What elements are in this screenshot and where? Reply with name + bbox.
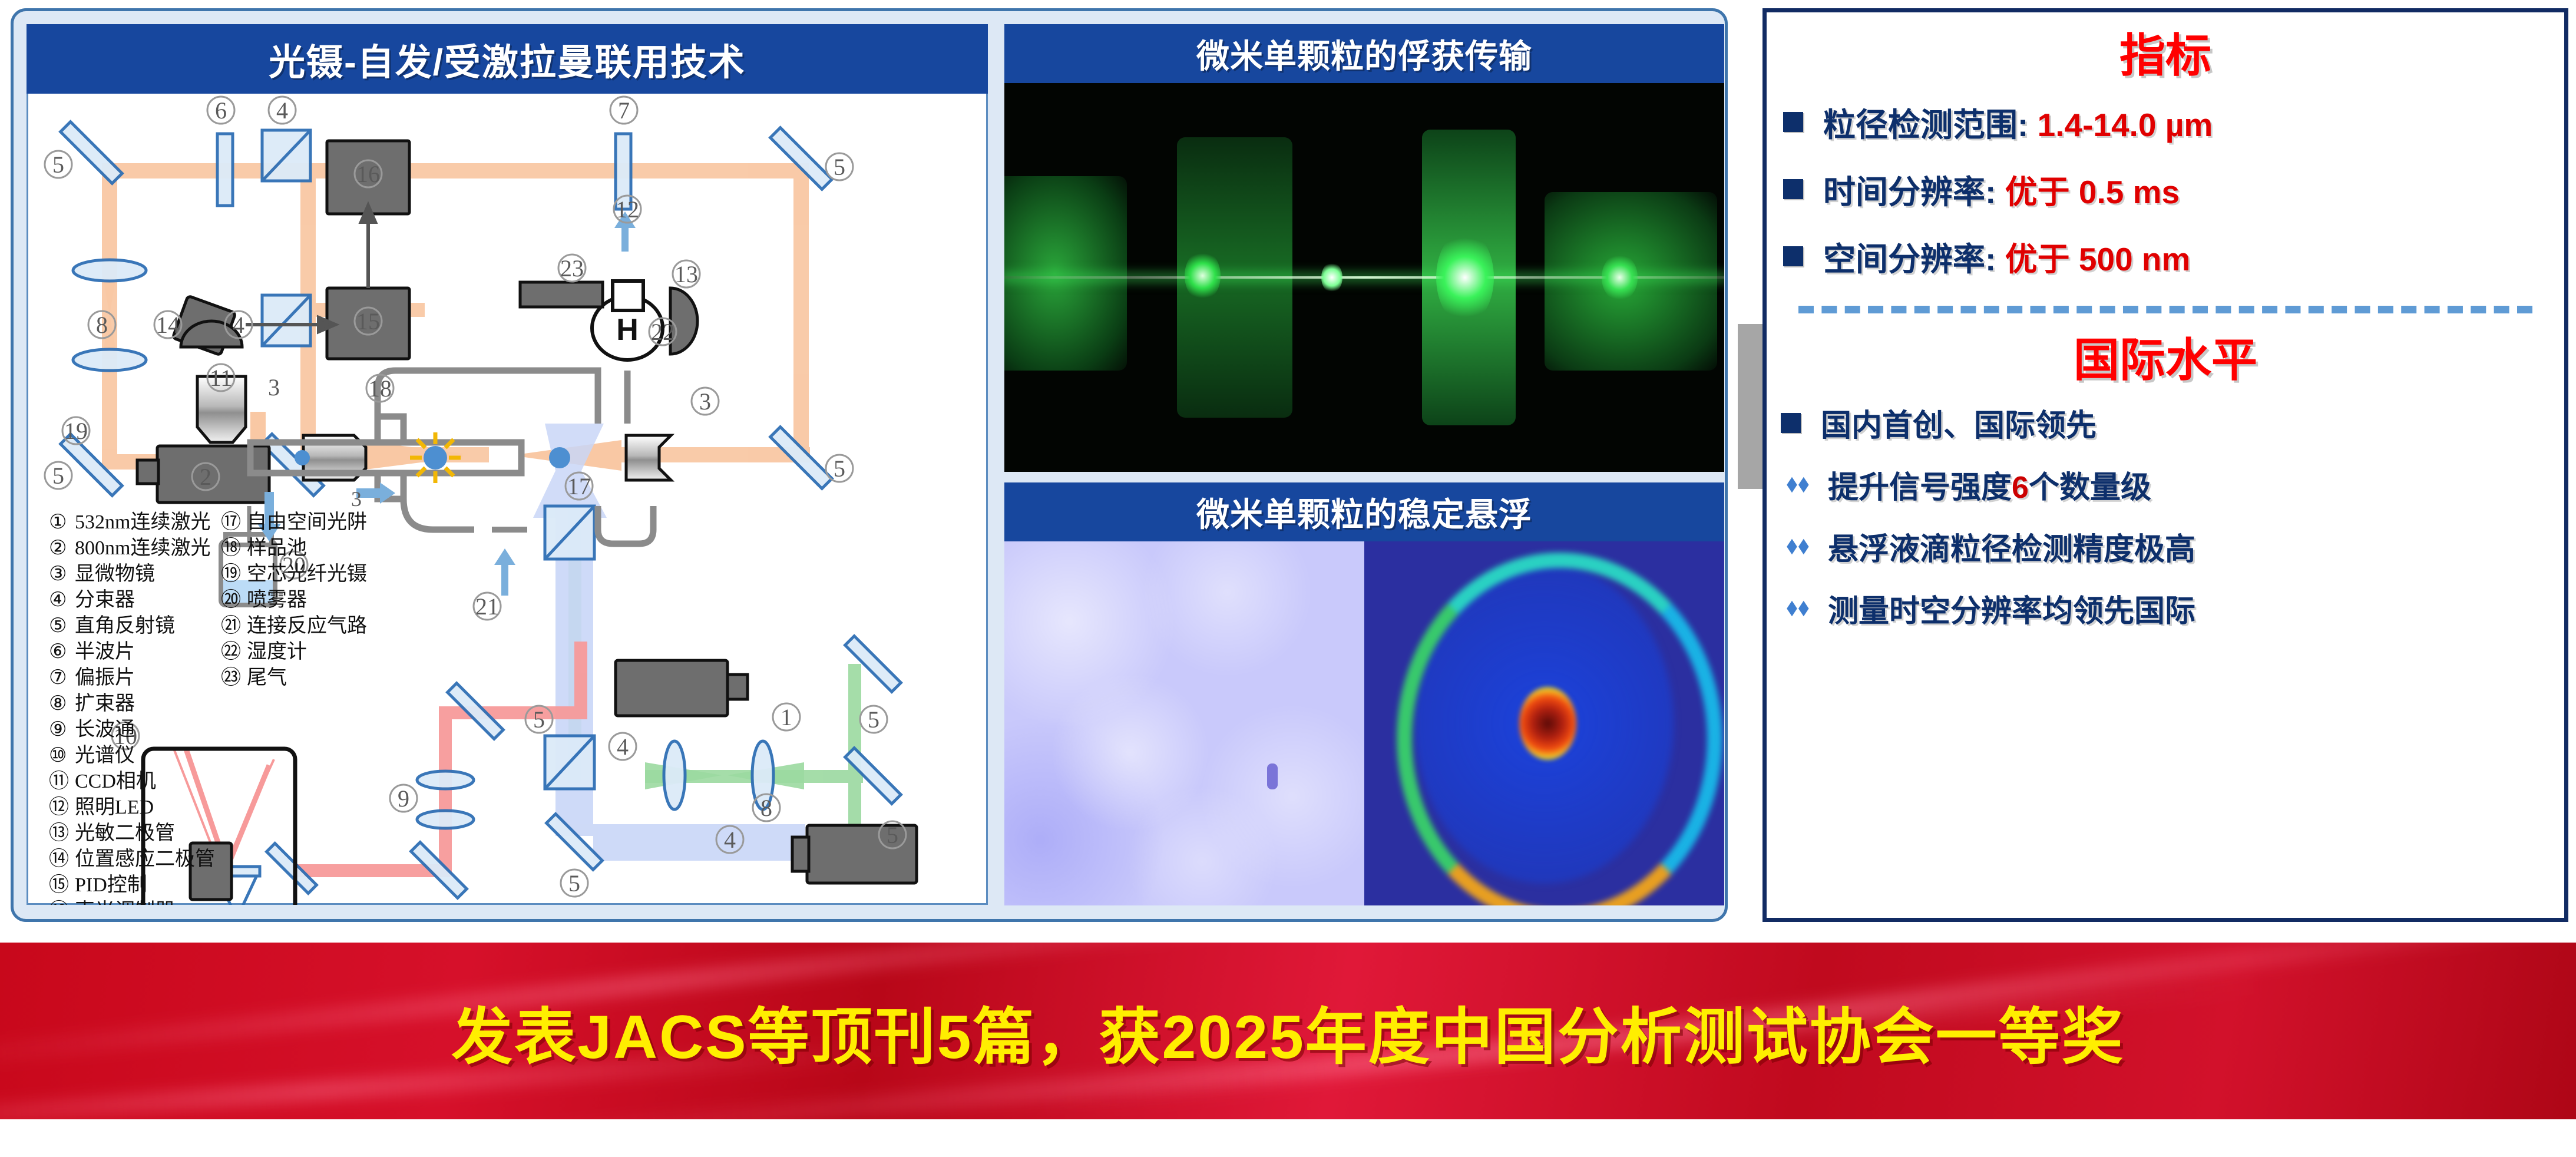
legend-number: ⑲ xyxy=(221,563,241,585)
noise-background-image xyxy=(1004,541,1364,905)
svg-text:3: 3 xyxy=(268,374,280,401)
svg-text:5: 5 xyxy=(52,151,64,178)
level-text-pre: 测量时空分辨率均领先国际 xyxy=(1828,594,2195,629)
svg-text:5: 5 xyxy=(834,455,845,482)
legend-label: 自由空间光阱 xyxy=(247,511,367,533)
svg-text:19: 19 xyxy=(64,418,88,444)
legend-number: ⑮ xyxy=(49,874,69,896)
svg-text:4: 4 xyxy=(724,827,736,853)
metric-label: 空间分辨率: xyxy=(1823,241,2005,277)
legend-number: ⑧ xyxy=(49,693,67,715)
legend-number: ㉒ xyxy=(221,640,241,663)
square-bullet-icon xyxy=(1783,112,1803,132)
legend-number: ⑱ xyxy=(221,537,241,559)
legend-label: 声光调制器 xyxy=(75,900,175,905)
legend-number: ⑳ xyxy=(221,589,241,611)
suspension-images xyxy=(1004,541,1724,905)
laser-trap-image xyxy=(1004,83,1724,472)
svg-text:5: 5 xyxy=(568,870,580,897)
svg-text:2: 2 xyxy=(200,464,211,490)
legend-label: PID控制 xyxy=(75,874,147,896)
heatmap-hotspot xyxy=(1519,687,1577,760)
svg-text:4: 4 xyxy=(617,733,629,760)
legend-label: 连接反应气路 xyxy=(247,614,367,637)
legend-label: 光谱仪 xyxy=(75,744,135,766)
legend-number: ⑬ xyxy=(49,822,69,844)
legend-label: 532nm连续激光 xyxy=(75,511,210,533)
metric-row: 粒径检测范围: 1.4-14.0 µm xyxy=(1783,98,2564,146)
legend-number: ⑥ xyxy=(49,641,67,663)
legend-label: 湿度计 xyxy=(247,640,307,663)
stable-suspension-photo-panel: 微米单颗粒的稳定悬浮 xyxy=(1004,482,1724,905)
legend-number: ⑨ xyxy=(49,719,67,741)
legend-label: 喷雾器 xyxy=(247,589,307,611)
svg-text:9: 9 xyxy=(398,785,409,812)
level-row: 国内首创、国际领先 xyxy=(1781,401,2564,445)
legend-label: 扩束器 xyxy=(75,692,135,715)
legend-number: ⑯ xyxy=(49,900,69,905)
metric-text: 粒径检测范围: 1.4-14.0 µm xyxy=(1823,98,2213,146)
svg-text:18: 18 xyxy=(368,375,392,402)
legend-number: ① xyxy=(49,511,67,533)
trap-transport-photo-panel: 微米单颗粒的俘获传输 xyxy=(1004,24,1724,472)
legend-label: 样品池 xyxy=(247,537,307,559)
metric-value: 优于 0.5 ms xyxy=(2005,174,2180,210)
metric-label: 粒径检测范围: xyxy=(1823,107,2038,143)
svg-text:5: 5 xyxy=(868,706,879,733)
metrics-card: 指标 粒径检测范围: 1.4-14.0 µm时间分辨率: 优于 0.5 ms空间… xyxy=(1762,8,2568,922)
suspension-photo-title: 微米单颗粒的稳定悬浮 xyxy=(1004,482,1724,541)
svg-text:7: 7 xyxy=(618,97,630,124)
level-row: 测量时空分辨率均领先国际 xyxy=(1781,586,2564,630)
legend-number: ② xyxy=(49,537,67,559)
level-text-pre: 悬浮液滴粒径检测精度极高 xyxy=(1828,533,2195,567)
svg-text:15: 15 xyxy=(356,308,380,335)
svg-text:4: 4 xyxy=(233,312,244,338)
svg-text:6: 6 xyxy=(215,97,227,124)
svg-text:8: 8 xyxy=(96,312,108,338)
level-text: 国内首创、国际领先 xyxy=(1821,401,2096,445)
svg-text:5: 5 xyxy=(52,462,64,489)
svg-text:8: 8 xyxy=(760,795,772,821)
legend-label: 半波片 xyxy=(75,640,135,663)
optical-setup-schematic: H xyxy=(27,94,988,905)
legend-number: ⑪ xyxy=(49,770,69,792)
svg-text:5: 5 xyxy=(834,154,845,180)
international-level-heading: 国际水平 xyxy=(1767,337,2564,383)
square-bullet-icon xyxy=(1781,413,1801,433)
svg-text:3: 3 xyxy=(351,487,362,511)
legend-number: ⑤ xyxy=(49,615,67,637)
level-row: 悬浮液滴粒径检测精度极高 xyxy=(1781,524,2564,568)
square-bullet-icon xyxy=(1783,179,1803,199)
legend-label: 800nm连续激光 xyxy=(75,537,210,559)
svg-text:5: 5 xyxy=(887,822,898,848)
legend-number: ㉑ xyxy=(221,614,241,637)
legend-number: ㉓ xyxy=(221,666,241,689)
legend-label: 偏振片 xyxy=(75,666,135,689)
legend-number: ⑰ xyxy=(221,511,241,533)
metrics-list: 粒径检测范围: 1.4-14.0 µm时间分辨率: 优于 0.5 ms空间分辨率… xyxy=(1767,98,2564,280)
metric-value: 优于 500 nm xyxy=(2005,241,2191,277)
svg-text:23: 23 xyxy=(560,255,584,282)
level-text-post: 个数量级 xyxy=(2029,471,2151,505)
metric-row: 空间分辨率: 优于 500 nm xyxy=(1783,233,2564,280)
metric-text: 空间分辨率: 优于 500 nm xyxy=(1823,233,2190,280)
intensity-heatmap-image xyxy=(1364,541,1724,905)
metric-text: 时间分辨率: 优于 0.5 ms xyxy=(1823,166,2180,213)
square-bullet-icon xyxy=(1783,246,1803,266)
svg-text:H: H xyxy=(616,313,639,347)
suspension-photo-body xyxy=(1004,541,1724,905)
legend-number: ⑭ xyxy=(49,848,69,870)
legend-label: 空芯光纤光镊 xyxy=(247,563,367,585)
legend-number: ⑫ xyxy=(49,796,69,818)
diamond-bullet-icon xyxy=(1785,534,1811,560)
level-text-pre: 国内首创、国际领先 xyxy=(1821,409,2096,443)
diagram-title: 光镊-自发/受激拉曼联用技术 xyxy=(27,24,988,94)
achievement-banner: 发表JACS等顶刊5篇，获2025年度中国分析测试协会一等奖 xyxy=(0,943,2576,1119)
left-content-card: 光镊-自发/受激拉曼联用技术 xyxy=(11,8,1728,922)
international-level-list: 国内首创、国际领先提升信号强度6个数量级悬浮液滴粒径检测精度极高测量时空分辨率均… xyxy=(1767,401,2564,630)
svg-text:5: 5 xyxy=(533,706,545,733)
legend-label: 直角反射镜 xyxy=(75,614,175,637)
level-text-highlight: 6 xyxy=(2012,471,2029,505)
legend-label: 长波通 xyxy=(75,718,135,741)
svg-text:21: 21 xyxy=(475,593,499,620)
banner-text: 发表JACS等顶刊5篇，获2025年度中国分析测试协会一等奖 xyxy=(0,943,2576,1119)
legend-label: 照明LED xyxy=(75,796,154,818)
metrics-heading: 指标 xyxy=(1767,32,2564,78)
section-divider xyxy=(1798,306,2532,313)
level-text-pre: 提升信号强度 xyxy=(1828,471,2012,505)
metric-value: 1.4-14.0 µm xyxy=(2038,107,2213,143)
svg-text:22: 22 xyxy=(651,319,674,345)
svg-text:1: 1 xyxy=(781,704,792,730)
legend-number: ③ xyxy=(49,563,67,585)
legend-label: 位置感应二极管 xyxy=(75,848,215,870)
metric-row: 时间分辨率: 优于 0.5 ms xyxy=(1783,166,2564,213)
svg-text:4: 4 xyxy=(276,97,288,124)
svg-text:3: 3 xyxy=(699,388,711,415)
legend-label: 光敏二极管 xyxy=(75,822,175,844)
level-row: 提升信号强度6个数量级 xyxy=(1781,462,2564,507)
svg-text:12: 12 xyxy=(616,196,639,223)
svg-text:11: 11 xyxy=(210,365,233,391)
level-text: 提升信号强度6个数量级 xyxy=(1828,462,2151,507)
trap-photo-body xyxy=(1004,83,1724,472)
diamond-bullet-icon xyxy=(1785,472,1811,498)
level-text: 测量时空分辨率均领先国际 xyxy=(1828,586,2195,630)
legend-label: 分束器 xyxy=(75,589,135,611)
level-text: 悬浮液滴粒径检测精度极高 xyxy=(1828,524,2195,568)
trap-photo-title: 微米单颗粒的俘获传输 xyxy=(1004,24,1724,83)
legend-number: ⑦ xyxy=(49,667,67,689)
legend-label: CCD相机 xyxy=(75,770,156,792)
diamond-bullet-icon xyxy=(1785,596,1811,622)
legend-number: ⑩ xyxy=(49,745,67,766)
svg-text:14: 14 xyxy=(156,312,180,338)
legend-label: 尾气 xyxy=(247,666,287,689)
svg-text:13: 13 xyxy=(674,261,698,287)
svg-text:17: 17 xyxy=(567,473,591,500)
svg-text:16: 16 xyxy=(356,161,380,187)
metric-label: 时间分辨率: xyxy=(1823,174,2005,210)
legend-label: 显微物镜 xyxy=(75,563,155,585)
legend-number: ④ xyxy=(49,589,67,611)
